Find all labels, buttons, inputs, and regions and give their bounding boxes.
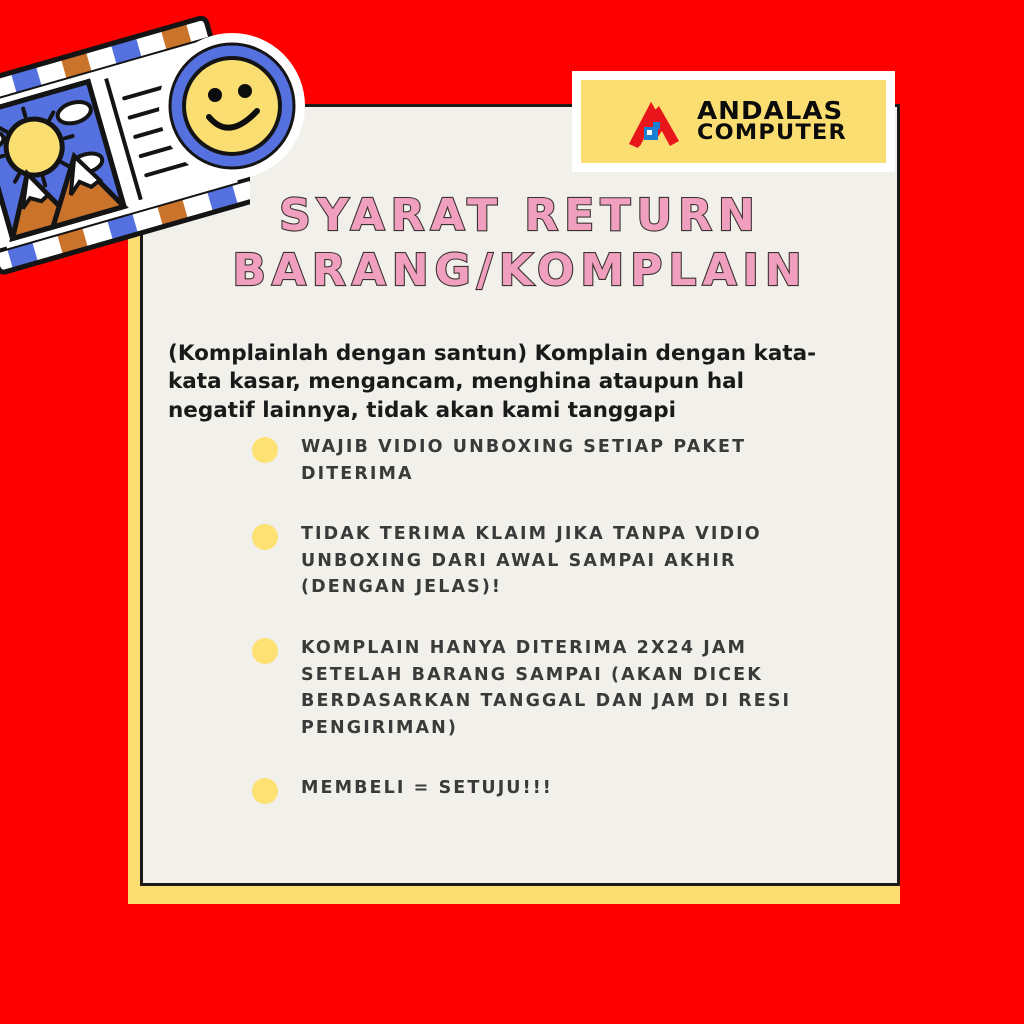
page-title-line1: SYARAT RETURN [150, 188, 890, 243]
page-title: SYARAT RETURN BARANG/KOMPLAIN [150, 188, 890, 299]
bullet-dot-icon [252, 524, 278, 550]
andalas-house-chevron-logo-icon [625, 94, 687, 150]
list-item-label: MEMBELI = SETUJU!!! [301, 775, 553, 802]
list-item-label: KOMPLAIN HANYA DITERIMA 2X24 JAM SETELAH… [301, 635, 842, 741]
brand-logo-wordmark: ANDALAS COMPUTER [697, 99, 841, 143]
bullet-dot-icon [252, 778, 278, 804]
page-title-line2: BARANG/KOMPLAIN [150, 243, 890, 298]
list-item: KOMPLAIN HANYA DITERIMA 2X24 JAM SETELAH… [252, 635, 842, 741]
list-item: TIDAK TERIMA KLAIM JIKA TANPA VIDIO UNBO… [252, 521, 842, 601]
smiley-face-badge-icon [157, 31, 307, 181]
list-item-label: WAJIB VIDIO UNBOXING SETIAP PAKET DITERI… [301, 434, 842, 487]
poster-canvas: ANDALAS COMPUTER SYARAT RETURN BARANG/KO… [0, 0, 1024, 1024]
brand-logo-badge: ANDALAS COMPUTER [572, 71, 895, 172]
terms-list: WAJIB VIDIO UNBOXING SETIAP PAKET DITERI… [252, 434, 842, 838]
intro-paragraph: (Komplainlah dengan santun) Komplain den… [168, 340, 818, 426]
bullet-dot-icon [252, 638, 278, 664]
list-item: WAJIB VIDIO UNBOXING SETIAP PAKET DITERI… [252, 434, 842, 487]
list-item: MEMBELI = SETUJU!!! [252, 775, 842, 804]
list-item-label: TIDAK TERIMA KLAIM JIKA TANPA VIDIO UNBO… [301, 521, 842, 601]
bullet-dot-icon [252, 437, 278, 463]
brand-logo-inner: ANDALAS COMPUTER [581, 80, 886, 163]
brand-name-line2: COMPUTER [697, 123, 847, 143]
